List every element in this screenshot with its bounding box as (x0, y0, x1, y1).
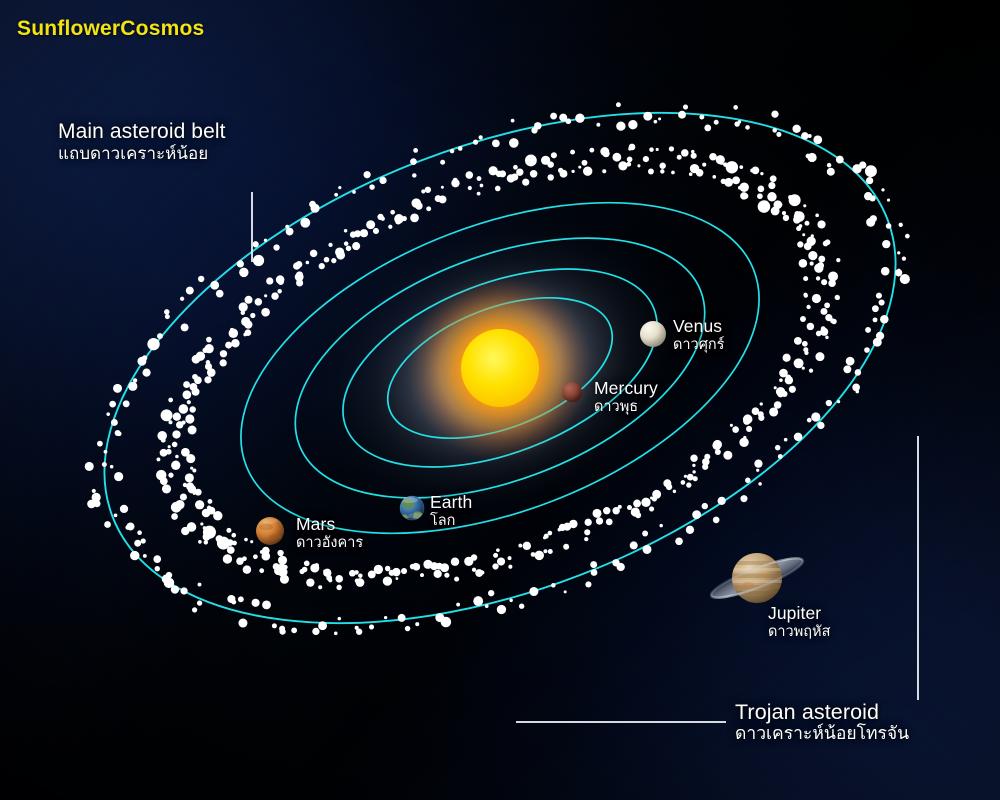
asteroid (109, 401, 116, 408)
asteroid (358, 573, 363, 578)
asteroid (277, 550, 283, 556)
asteroid (156, 457, 160, 461)
asteroid (183, 483, 187, 487)
asteroid (617, 563, 625, 571)
asteroid (168, 420, 172, 424)
asteroid (793, 216, 801, 224)
asteroid (836, 156, 844, 164)
asteroid (220, 359, 227, 366)
label-planet-mars: Mars ดาวอังคาร (296, 515, 363, 551)
asteroid (388, 225, 392, 229)
asteroid (465, 171, 473, 179)
asteroid (866, 177, 873, 184)
asteroid (713, 440, 722, 449)
asteroid (548, 531, 553, 536)
asteroid (769, 407, 778, 416)
asteroid (873, 338, 882, 347)
asteroid (162, 575, 171, 584)
asteroid (245, 296, 253, 304)
asteroid (699, 115, 704, 120)
asteroid (804, 293, 808, 297)
asteroid (616, 121, 625, 130)
asteroid (511, 119, 515, 123)
asteroid (168, 473, 173, 478)
asteroid (807, 323, 814, 330)
asteroid (210, 281, 219, 290)
asteroid (558, 528, 562, 532)
asteroid (395, 577, 398, 580)
asteroid (306, 578, 314, 586)
asteroid (789, 194, 801, 206)
asteroid (272, 293, 277, 298)
asteroid (426, 206, 431, 211)
label-main-asteroid-belt-en: Main asteroid belt (58, 120, 226, 144)
asteroid (696, 169, 704, 177)
asteroid (349, 570, 356, 577)
asteroid (654, 120, 658, 124)
asteroid (820, 328, 828, 336)
asteroid (820, 308, 827, 315)
asteroid (746, 426, 752, 432)
asteroid (475, 569, 483, 577)
asteroid (415, 622, 419, 626)
asteroid (238, 619, 247, 628)
asteroid (441, 186, 444, 189)
label-trojan-asteroid-th: ดาวเคราะห์น้อยโทรจัน (735, 724, 909, 744)
label-jupiter-en: Jupiter (768, 604, 830, 624)
asteroid (686, 526, 694, 534)
asteroid (165, 314, 170, 319)
asteroid (115, 430, 121, 436)
asteroid (602, 150, 609, 157)
asteroid (175, 500, 184, 509)
asteroid (324, 257, 330, 263)
asteroid (774, 386, 777, 389)
asteroid (497, 605, 506, 614)
asteroid (772, 128, 777, 133)
asteroid (783, 354, 791, 362)
asteroid (410, 564, 415, 569)
asteroid (534, 122, 541, 129)
planet-venus (640, 321, 666, 347)
asteroid (423, 560, 432, 569)
asteroid (306, 261, 310, 265)
asteroid (364, 171, 371, 178)
asteroid (239, 302, 248, 311)
asteroid (865, 165, 877, 177)
asteroid (360, 229, 368, 237)
asteroid (183, 381, 190, 388)
asteroid (813, 255, 816, 258)
asteroid (575, 113, 584, 122)
label-planet-mercury: Mercury ดาวพุธ (594, 379, 658, 415)
asteroid (880, 315, 889, 324)
asteroid (243, 565, 252, 574)
asteroid (245, 329, 252, 336)
asteroid (261, 308, 270, 317)
asteroid (648, 169, 654, 175)
asteroid (805, 221, 810, 226)
asteroid (739, 183, 748, 192)
asteroid (713, 517, 720, 524)
asteroid (488, 590, 494, 596)
asteroid (813, 135, 822, 144)
asteroid (692, 464, 695, 467)
asteroid (496, 548, 500, 552)
label-main-asteroid-belt: Main asteroid belt แถบดาวเคราะห์น้อย (58, 120, 226, 163)
asteroid (92, 493, 101, 502)
asteroid (319, 263, 325, 269)
asteroid (157, 431, 167, 441)
asteroid (181, 324, 189, 332)
asteroid (673, 490, 676, 493)
asteroid (881, 267, 890, 276)
asteroid (760, 172, 763, 175)
asteroid (584, 529, 590, 535)
asteroid (590, 561, 597, 568)
asteroid (778, 454, 783, 459)
asteroid (720, 161, 724, 165)
asteroid (865, 327, 871, 333)
asteroid (551, 152, 557, 158)
asteroid (794, 337, 802, 345)
asteroid (188, 426, 197, 435)
asteroid (412, 198, 422, 208)
asteroid (97, 441, 103, 447)
asteroid (570, 150, 575, 155)
asteroid (355, 626, 359, 630)
asteroid (789, 386, 796, 393)
asteroid (518, 544, 522, 548)
asteroid (272, 623, 277, 628)
asteroid (585, 519, 592, 526)
asteroid (180, 297, 184, 301)
asteroid (704, 125, 711, 132)
asteroid (616, 102, 621, 107)
asteroid (379, 177, 386, 184)
label-planet-jupiter: Jupiter ดาวพฤหัส (768, 604, 830, 640)
label-mercury-en: Mercury (594, 379, 658, 399)
asteroid (779, 203, 782, 206)
asteroid (593, 509, 602, 518)
asteroid (493, 553, 498, 558)
asteroid (767, 192, 776, 201)
asteroid (738, 120, 741, 123)
asteroid (774, 401, 782, 409)
asteroid (352, 190, 356, 194)
asteroid (519, 604, 524, 609)
asteroid (637, 164, 640, 167)
asteroid (816, 276, 820, 280)
sun-disc (461, 329, 539, 407)
asteroid (663, 479, 671, 487)
asteroid (296, 271, 303, 278)
asteroid (143, 554, 147, 558)
asteroid (102, 462, 107, 467)
asteroid (318, 585, 322, 589)
asteroid (612, 153, 621, 162)
asteroid (171, 513, 178, 520)
asteroid (523, 542, 531, 550)
asteroid (771, 207, 780, 216)
asteroid (777, 391, 784, 398)
asteroid (678, 111, 686, 119)
asteroid (543, 549, 547, 553)
asteroid (794, 358, 804, 368)
asteroid (815, 214, 819, 218)
asteroid (681, 149, 689, 157)
asteroid (180, 493, 187, 500)
asteroid (804, 351, 808, 355)
asteroid (262, 600, 271, 609)
label-mars-th: ดาวอังคาร (296, 535, 363, 551)
asteroid (677, 155, 682, 160)
asteroid (477, 192, 481, 196)
asteroid (806, 305, 810, 309)
asteroid (800, 316, 806, 322)
asteroid (548, 549, 553, 554)
asteroid (85, 462, 94, 471)
asteroid (534, 551, 544, 561)
asteroid (141, 538, 146, 543)
asteroid (612, 507, 619, 514)
asteroid (175, 455, 179, 459)
asteroid (385, 566, 391, 572)
asteroid (776, 132, 781, 137)
asteroid (279, 628, 285, 634)
asteroid (302, 567, 308, 573)
asteroid (278, 279, 284, 285)
asteroid (232, 541, 237, 546)
asteroid (120, 505, 128, 513)
asteroid (471, 554, 478, 561)
asteroid (106, 412, 110, 416)
asteroid (172, 461, 180, 469)
asteroid (818, 256, 825, 263)
sun (408, 276, 592, 460)
planet-mars (256, 517, 284, 545)
asteroid (758, 415, 764, 421)
asteroid (811, 412, 820, 421)
asteroid (702, 503, 708, 509)
asteroid (831, 319, 837, 325)
asteroid (817, 220, 825, 228)
asteroid (323, 569, 326, 572)
asteroid (900, 274, 910, 284)
asteroid (633, 500, 641, 508)
label-mercury-th: ดาวพุธ (594, 399, 658, 415)
asteroid (468, 186, 472, 190)
asteroid (732, 176, 740, 184)
asteroid (264, 294, 267, 297)
asteroid (453, 178, 458, 183)
asteroid (473, 139, 478, 144)
asteroid (310, 250, 317, 257)
asteroid (802, 367, 805, 370)
asteroid (618, 161, 627, 170)
asteroid (168, 445, 171, 448)
asteroid (760, 402, 763, 405)
asteroid (496, 171, 503, 178)
asteroid (195, 500, 204, 509)
asteroid (318, 621, 327, 630)
asteroid (253, 241, 259, 247)
asteroid (405, 626, 410, 631)
asteroid (410, 158, 417, 165)
asteroid (810, 262, 814, 266)
asteroid (846, 357, 855, 366)
asteroid (473, 596, 483, 606)
asteroid (346, 246, 352, 252)
asteroid (692, 470, 695, 473)
asteroid (758, 185, 765, 192)
asteroid (186, 482, 194, 490)
asteroid (551, 583, 556, 588)
asteroid (454, 577, 459, 582)
asteroid (227, 595, 235, 603)
asteroid (420, 573, 424, 577)
label-venus-en: Venus (673, 317, 724, 337)
asteroid (114, 472, 123, 481)
asteroid (286, 228, 294, 236)
asteroid (293, 262, 300, 269)
asteroid (817, 422, 824, 429)
asteroid (803, 204, 806, 207)
asteroid (331, 258, 336, 263)
asteroid (659, 163, 665, 169)
asteroid (596, 517, 603, 524)
asteroid (226, 528, 231, 533)
asteroid (724, 178, 733, 187)
asteroid (543, 536, 546, 539)
asteroid (669, 146, 674, 151)
asteroid (771, 111, 778, 118)
asteroid (384, 616, 387, 619)
asteroid (802, 233, 805, 236)
label-venus-th: ดาวศุกร์ (673, 337, 724, 353)
asteroid (273, 563, 280, 570)
asteroid (187, 522, 197, 532)
asteroid (230, 328, 234, 332)
asteroid (477, 176, 482, 181)
asteroid (628, 120, 637, 129)
asteroid (596, 123, 600, 127)
asteroid (602, 169, 606, 173)
asteroid (335, 575, 343, 583)
asteroid (775, 445, 780, 450)
asteroid (796, 226, 801, 231)
asteroid (192, 607, 197, 612)
asteroid (571, 170, 574, 173)
asteroid (508, 556, 512, 560)
asteroid (531, 552, 536, 557)
asteroid (730, 424, 733, 427)
asteroid (181, 420, 185, 424)
asteroid (807, 418, 812, 423)
asteroid (480, 184, 484, 188)
asteroid (185, 473, 194, 482)
asteroid (225, 342, 232, 349)
asteroid (643, 112, 652, 121)
asteroid (92, 489, 96, 493)
asteroid (530, 170, 538, 178)
asteroid (266, 277, 273, 284)
asteroid (291, 627, 297, 633)
asteroid (581, 160, 587, 166)
asteroid (204, 376, 211, 383)
asteroid (681, 480, 686, 485)
planet-earth (400, 496, 424, 520)
asteroid (837, 400, 840, 403)
asteroid (803, 276, 808, 281)
asteroid (216, 535, 223, 542)
brand-title: SunflowerCosmos (17, 17, 204, 41)
asteroid (649, 147, 654, 152)
asteroid (627, 157, 633, 163)
asteroid (627, 505, 632, 510)
asteroid (369, 624, 374, 629)
asteroid (687, 474, 694, 481)
asteroid (686, 482, 691, 487)
asteroid (338, 617, 342, 621)
asteroid (390, 210, 395, 215)
asteroid (220, 350, 227, 357)
asteroid (675, 537, 683, 545)
asteroid (273, 244, 279, 250)
asteroid (563, 544, 569, 550)
asteroid (123, 400, 130, 407)
asteroid (684, 475, 687, 478)
asteroid (743, 436, 746, 439)
asteroid (435, 613, 444, 622)
asteroid (205, 344, 214, 353)
asteroid (250, 540, 253, 543)
asteroid (412, 173, 416, 177)
asteroid (770, 175, 777, 182)
asteroid (392, 568, 400, 576)
asteroid (172, 442, 178, 448)
asteroid (172, 430, 180, 438)
asteroid (198, 276, 204, 282)
asteroid (401, 568, 407, 574)
asteroid (253, 255, 264, 266)
label-trojan-asteroid: Trojan asteroid ดาวเคราะห์น้อยโทรจัน (735, 700, 909, 744)
asteroid (792, 125, 800, 133)
asteroid (660, 169, 664, 173)
asteroid (285, 225, 289, 229)
asteroid (231, 339, 239, 347)
asteroid (815, 352, 824, 361)
asteroid (886, 223, 892, 229)
asteroid (187, 400, 191, 404)
asteroid (168, 398, 173, 403)
asteroid (836, 258, 840, 262)
asteroid (745, 125, 750, 130)
asteroid (750, 168, 754, 172)
asteroid (203, 526, 207, 530)
label-earth-en: Earth (430, 493, 472, 513)
asteroid (826, 400, 832, 406)
asteroid (715, 449, 721, 455)
asteroid (104, 521, 111, 528)
asteroid (277, 289, 281, 293)
asteroid (881, 188, 884, 191)
asteroid (344, 229, 347, 232)
asteroid (785, 376, 793, 384)
asteroid (156, 470, 166, 480)
asteroid (864, 347, 870, 353)
asteroid (133, 378, 137, 382)
